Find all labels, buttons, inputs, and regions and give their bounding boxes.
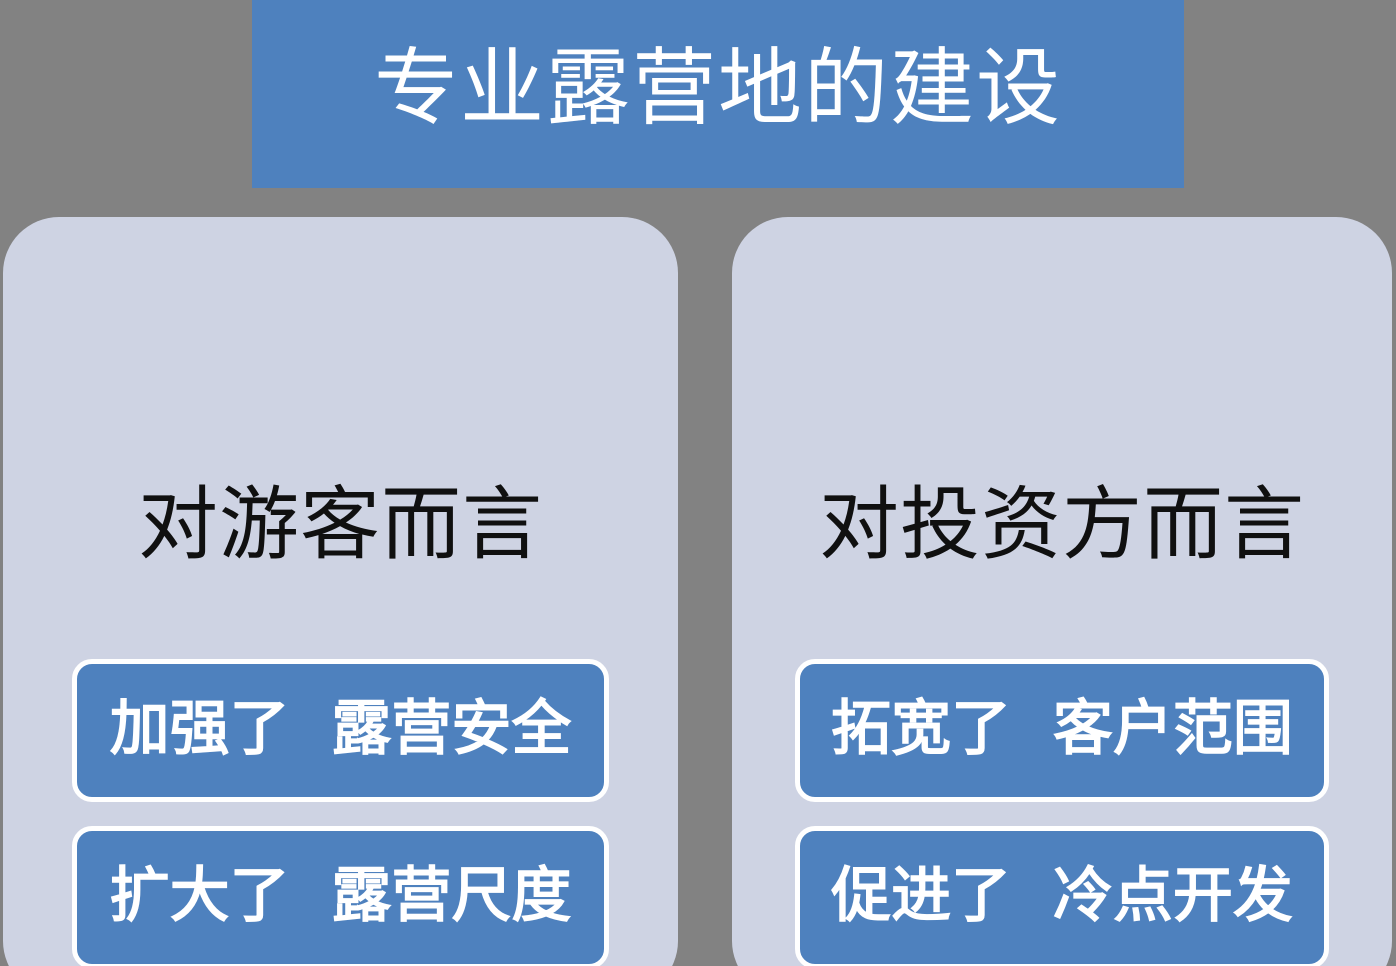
pill-label: 扩大了 露营尺度 (110, 866, 572, 926)
column-heading-tourists: 对游客而言 (3, 485, 678, 565)
pill-item[interactable]: 扩大了 露营尺度 (72, 826, 609, 966)
diagram-canvas: 专业露营地的建设 对游客而言 加强了 露营安全 扩大了 露营尺度 丰富了 露营内… (0, 0, 1396, 966)
column-card-investors: 对投资方而言 拓宽了 客户范围 促进了 冷点开发 创造了 特种地产 (732, 217, 1392, 966)
column-heading-investors: 对投资方而言 (732, 485, 1392, 565)
pill-label: 加强了 露营安全 (110, 699, 572, 759)
pill-item[interactable]: 加强了 露营安全 (72, 659, 609, 802)
pill-item[interactable]: 促进了 冷点开发 (795, 826, 1329, 966)
pill-label: 拓宽了 客户范围 (831, 699, 1293, 759)
pill-label: 促进了 冷点开发 (831, 866, 1293, 926)
pill-item[interactable]: 拓宽了 客户范围 (795, 659, 1329, 802)
page-title: 专业露营地的建设 (374, 46, 1062, 130)
column-card-tourists: 对游客而言 加强了 露营安全 扩大了 露营尺度 丰富了 露营内涵 (3, 217, 678, 966)
title-banner: 专业露营地的建设 (252, 0, 1184, 188)
pill-list-investors: 拓宽了 客户范围 促进了 冷点开发 创造了 特种地产 (732, 659, 1392, 966)
pill-list-tourists: 加强了 露营安全 扩大了 露营尺度 丰富了 露营内涵 (3, 659, 678, 966)
